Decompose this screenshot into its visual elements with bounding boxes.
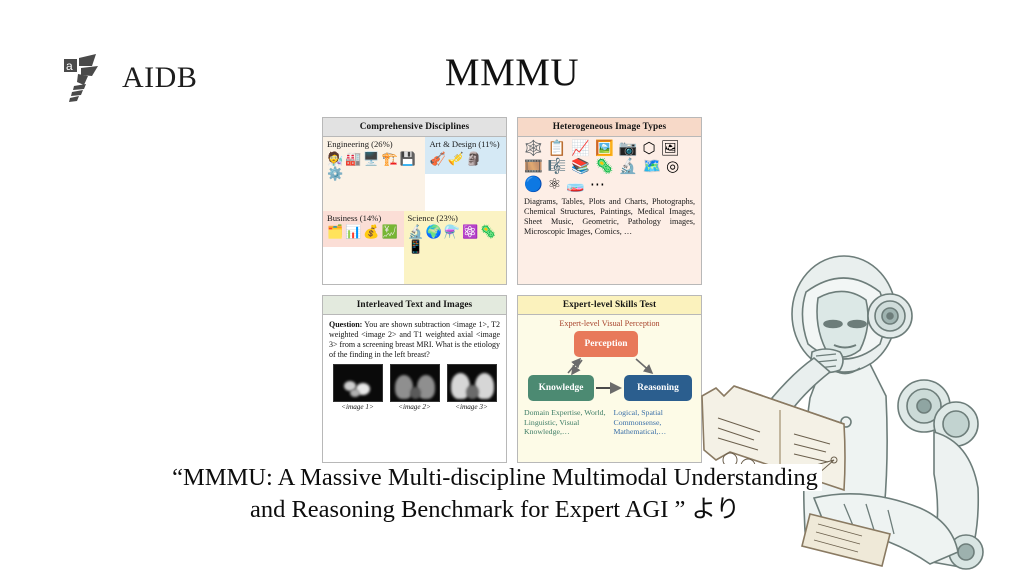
discipline-label: Business (14%) bbox=[327, 214, 400, 224]
engineer-icon: 🧑‍🔬 bbox=[327, 152, 343, 165]
map-icon: 🗺️ bbox=[642, 160, 661, 175]
discipline-label: Art & Design (11%) bbox=[429, 140, 499, 150]
chip-icon: 💾 bbox=[400, 152, 416, 165]
money-bag-icon: 💰 bbox=[363, 225, 379, 238]
statue-icon: 🗿 bbox=[466, 152, 482, 165]
microscope-icon: 🔬 bbox=[619, 160, 638, 175]
reasoning-list: Logical, Spatial Commonsense, Mathematic… bbox=[614, 408, 696, 437]
mri-cell: <image 2> bbox=[390, 364, 440, 411]
mri-image-row: <image 1> <image 2> bbox=[329, 364, 500, 411]
panel-header-image-types: Heterogeneous Image Types bbox=[518, 118, 701, 137]
node-reasoning: Reasoning bbox=[624, 375, 692, 401]
panel-header-interleaved: Interleaved Text and Images bbox=[323, 296, 506, 315]
network-diagram-icon: 🕸️ bbox=[524, 142, 543, 157]
mri-caption: <image 3> bbox=[447, 403, 497, 411]
mmmu-figure: Comprehensive Disciplines Engineering (2… bbox=[322, 117, 702, 469]
violin-icon: 🎻 bbox=[429, 152, 445, 165]
node-perception: Perception bbox=[574, 331, 638, 357]
venn-icon: 🔵 bbox=[524, 178, 543, 193]
panel-expert-level-skills-test: Expert-level Skills Test Expert-level Vi… bbox=[517, 295, 702, 463]
comic-icon: 📚 bbox=[571, 160, 590, 175]
trumpet-icon: 🎺 bbox=[448, 152, 464, 165]
geometric-icon: ◎ bbox=[666, 160, 679, 175]
flask-icon: ⚗️ bbox=[444, 225, 460, 238]
molecule-icon: 🧫 bbox=[566, 178, 585, 193]
panel-header-disciplines: Comprehensive Disciplines bbox=[323, 118, 506, 137]
disciplines-grid: Engineering (26%) 🧑‍🔬 🏭 🖥️ 🏗️ 💾 ⚙️ bbox=[323, 137, 506, 284]
painting-icon: 🖼 bbox=[661, 142, 680, 157]
slide-canvas: a AIDB MMMU Comprehensive Disciplines bbox=[0, 0, 1024, 576]
atom-icon: ⚛️ bbox=[462, 225, 478, 238]
caption-line-2: and Reasoning Benchmark for Expert AGI ”… bbox=[246, 496, 744, 523]
discipline-business: Business (14%) 🗂️ 📊 💰 💹 bbox=[323, 211, 404, 248]
device-icon: 📱 bbox=[408, 240, 424, 253]
discipline-icons: 🔬 🌍 ⚗️ ⚛️ 🦠 📱 bbox=[408, 225, 502, 253]
discipline-label: Engineering (26%) bbox=[327, 140, 421, 150]
mri-caption: <image 2> bbox=[390, 403, 440, 411]
gear-icon: ⚙️ bbox=[327, 167, 343, 180]
image-type-icons: 🕸️ 📋 📈 🖼️ 📷 ⬡ 🖼 🎞️ 🎼 📚 🦠 🔬 bbox=[524, 142, 695, 193]
computer-icon: 🖥️ bbox=[363, 152, 379, 165]
discipline-icons: 🗂️ 📊 💰 💹 bbox=[327, 225, 400, 238]
table-icon: 📋 bbox=[548, 142, 567, 157]
chemical-structure-icon: ⬡ bbox=[642, 142, 655, 157]
mri-cell: <image 3> bbox=[447, 364, 497, 411]
camera-icon: 📷 bbox=[619, 142, 638, 157]
medical-image-icon: 🎞️ bbox=[524, 160, 543, 175]
bar-chart-icon: 📊 bbox=[345, 225, 361, 238]
plot-icon: 📈 bbox=[571, 142, 590, 157]
folder-icon: 🗂️ bbox=[327, 225, 343, 238]
mri-image-2 bbox=[390, 364, 440, 402]
discipline-label: Science (23%) bbox=[408, 214, 502, 224]
question-text: Question: You are shown subtraction <ima… bbox=[329, 320, 500, 360]
discipline-art-design: Art & Design (11%) 🎻 🎺 🗿 bbox=[425, 137, 506, 174]
trend-icon: 💹 bbox=[382, 225, 398, 238]
panel-comprehensive-disciplines: Comprehensive Disciplines Engineering (2… bbox=[322, 117, 507, 285]
microbe-icon: 🦠 bbox=[480, 225, 496, 238]
factory-icon: 🏭 bbox=[345, 152, 361, 165]
construction-icon: 🏗️ bbox=[382, 152, 398, 165]
page-title: MMMU bbox=[0, 50, 1024, 95]
caption-line-1: “MMMU: A Massive Multi-discipline Multim… bbox=[168, 464, 822, 491]
mri-image-1 bbox=[333, 364, 383, 402]
discipline-icons: 🧑‍🔬 🏭 🖥️ 🏗️ 💾 ⚙️ bbox=[327, 152, 421, 180]
panel-interleaved-text-images: Interleaved Text and Images Question: Yo… bbox=[322, 295, 507, 463]
mri-caption: <image 1> bbox=[333, 403, 383, 411]
knowledge-list: Domain Expertise, World, Linguistic, Vis… bbox=[524, 408, 606, 437]
chart-icon: 🖼️ bbox=[595, 142, 614, 157]
ellipsis-icon: ⋯ bbox=[590, 178, 605, 193]
panel-heterogeneous-image-types: Heterogeneous Image Types 🕸️ 📋 📈 🖼️ 📷 ⬡ … bbox=[517, 117, 702, 285]
discipline-engineering: Engineering (26%) 🧑‍🔬 🏭 🖥️ 🏗️ 💾 ⚙️ bbox=[323, 137, 425, 211]
caption: “MMMU: A Massive Multi-discipline Multim… bbox=[80, 462, 910, 527]
image-types-caption: Diagrams, Tables, Plots and Charts, Phot… bbox=[524, 197, 695, 237]
discipline-science: Science (23%) 🔬 🌍 ⚗️ ⚛️ 🦠 📱 bbox=[404, 211, 506, 285]
microscope-icon: 🔬 bbox=[408, 225, 424, 238]
mri-image-3 bbox=[447, 364, 497, 402]
node-knowledge: Knowledge bbox=[528, 375, 594, 401]
sheet-music-icon: 🎼 bbox=[548, 160, 567, 175]
skills-diagram: Perception Knowledge Reasoning bbox=[524, 329, 695, 405]
skills-subtitle: Expert-level Visual Perception bbox=[524, 319, 695, 328]
panel-header-skills: Expert-level Skills Test bbox=[518, 296, 701, 315]
pathology-icon: 🦠 bbox=[595, 160, 614, 175]
globe-icon: 🌍 bbox=[426, 225, 442, 238]
mri-cell: <image 1> bbox=[333, 364, 383, 411]
question-label: Question: bbox=[329, 320, 362, 329]
tree-graph-icon: ⚛ bbox=[548, 178, 561, 193]
